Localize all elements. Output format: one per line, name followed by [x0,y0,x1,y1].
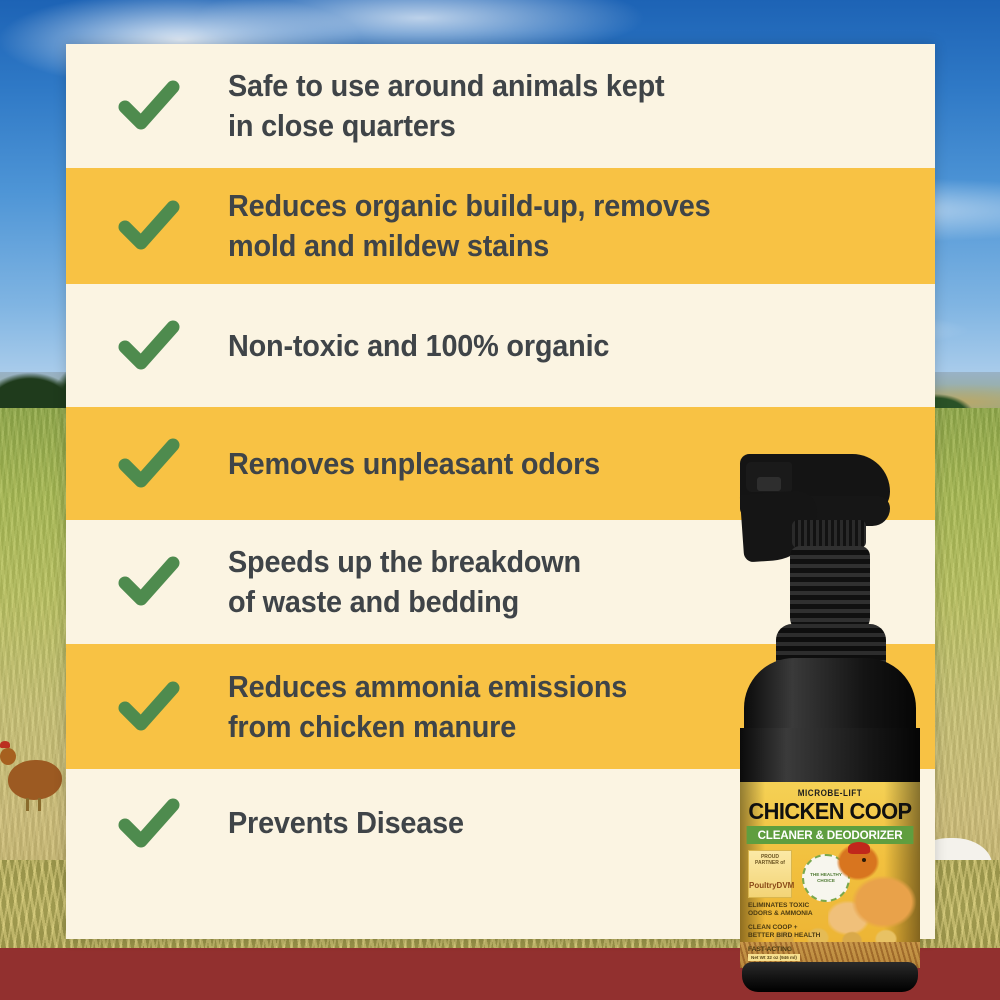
product-bottle: MICROBE-LIFT CHICKEN COOP CLEANER & DEOD… [718,452,918,972]
label-brand: MICROBE-LIFT [749,788,911,798]
feature-text: Reduces organic build-up, removes mold a… [228,186,710,265]
bottle-base [742,962,918,992]
feature-row: Reduces organic build-up, removes mold a… [66,168,935,284]
label-bullet: ELIMINATES TOXIC ODORS & AMMONIA [748,902,834,919]
label-bullet: CLEAN COOP + BETTER BIRD HEALTH [748,924,834,941]
product-label: MICROBE-LIFT CHICKEN COOP CLEANER & DEOD… [740,782,920,968]
checkmark-icon [118,435,180,493]
partner-badge-logo: PoultryDVM [749,881,791,890]
feature-text: Speeds up the breakdown of waste and bed… [228,542,581,621]
label-title: CHICKEN COOP [745,798,916,825]
bottle-collar [792,520,866,548]
spray-nozzle [746,462,792,492]
nozzle-slot [757,477,781,491]
feature-text: Non-toxic and 100% organic [228,326,609,366]
checkmark-icon [118,317,180,375]
checkmark-icon [118,77,180,135]
bottle-neck-ribs [790,546,870,632]
partner-badge: PROUD PARTNER of PoultryDVM [748,850,792,898]
product-infographic: Safe to use around animals kept in close… [0,0,1000,1000]
feature-row: Safe to use around animals kept in close… [66,44,935,168]
hen-eye [862,858,866,862]
feature-text: Safe to use around animals kept in close… [228,66,664,145]
bottle-body [740,728,920,788]
checkmark-icon [118,553,180,611]
feature-row: Non-toxic and 100% organic [66,284,935,407]
feature-text: Reduces ammonia emissions from chicken m… [228,667,627,746]
checkmark-icon [118,678,180,736]
feature-text: Removes unpleasant odors [228,444,600,484]
checkmark-icon [118,795,180,853]
checkmark-icon [118,197,180,255]
partner-badge-top: PROUD PARTNER of [749,854,791,867]
feature-text: Prevents Disease [228,803,464,843]
hen-comb [848,842,870,854]
net-weight-text: Net Wt 32 oz (946 ml) [748,954,800,961]
